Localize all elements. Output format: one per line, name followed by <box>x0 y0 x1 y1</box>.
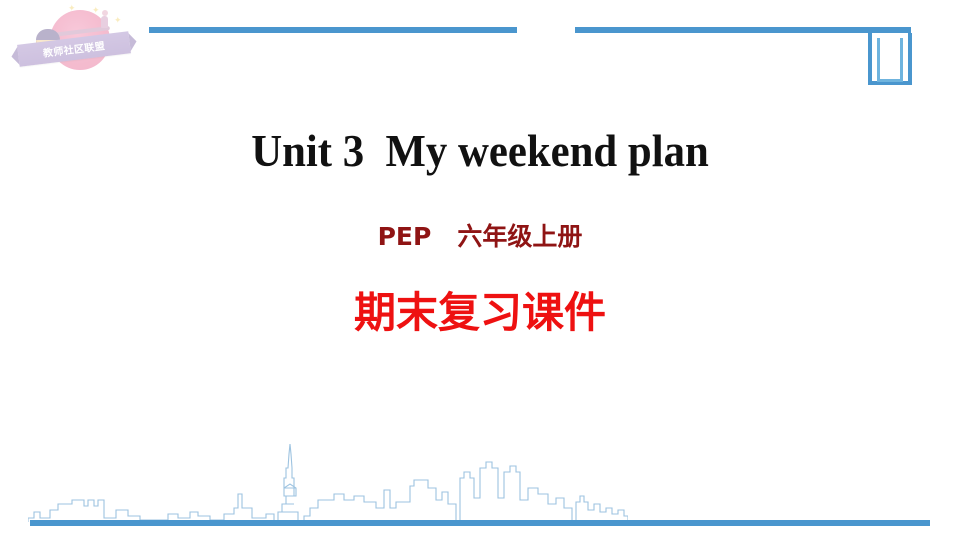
presentation-slide: ✦ ✦ ✦ 教师社区联盟 Unit 3 My weekend plan PEP … <box>0 0 960 540</box>
sparkle-stars-icon: ✦ <box>92 6 100 15</box>
standing-person-icon <box>100 10 109 30</box>
top-rule-right <box>575 27 911 33</box>
corner-bracket-inner-icon <box>877 38 903 82</box>
sparkle-stars-icon: ✦ <box>114 16 122 25</box>
logo-banner-label: 教师社区联盟 <box>17 34 130 63</box>
top-rule-left <box>149 27 517 33</box>
community-logo-watermark: ✦ ✦ ✦ 教师社区联盟 <box>14 4 134 80</box>
page-title: Unit 3 My weekend plan <box>34 127 927 175</box>
course-subtitle: PEP 六年级上册 <box>0 223 960 251</box>
highlight-subtitle: 期末复习课件 <box>0 290 960 336</box>
bottom-rule <box>30 520 930 526</box>
city-skyline-icon <box>28 438 628 526</box>
corner-bracket-cap <box>877 33 903 37</box>
sparkle-stars-icon: ✦ <box>68 4 76 13</box>
